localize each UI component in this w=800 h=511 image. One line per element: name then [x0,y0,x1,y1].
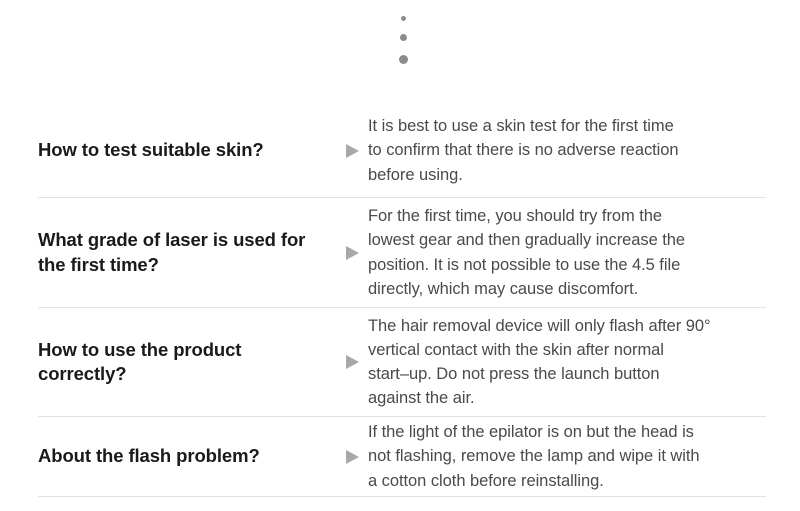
faq-question-cell: What grade of laser is used for the firs… [38,228,334,277]
arrow-right-icon [346,355,359,369]
three-dot-ornament [0,0,800,100]
faq-question-text: What grade of laser is used for the firs… [38,228,328,277]
faq-question-cell: How to use the product correctly? [38,338,334,387]
faq-answer-cell: It is best to use a skin test for the fi… [368,114,766,187]
faq-answer-cell: For the first time, you should try from … [368,204,766,301]
ornament-dot-medium [400,34,407,41]
faq-question-text: About the flash problem? [38,444,328,468]
faq-question-text: How to use the product correctly? [38,338,328,387]
faq-question-cell: About the flash problem? [38,444,334,468]
faq-row: About the flash problem? If the light of… [38,417,766,497]
faq-answer-cell: The hair removal device will only flash … [368,314,766,411]
arrow-right-icon [346,246,359,260]
arrow-right-icon [346,144,359,158]
faq-answer-text: The hair removal device will only flash … [368,314,766,411]
faq-answer-text: It is best to use a skin test for the fi… [368,114,766,187]
faq-row: What grade of laser is used for the firs… [38,198,766,308]
faq-row: How to test suitable skin? It is best to… [38,104,766,198]
faq-list: How to test suitable skin? It is best to… [38,104,766,497]
faq-question-cell: How to test suitable skin? [38,138,334,162]
faq-answer-text: For the first time, you should try from … [368,204,766,301]
faq-question-text: How to test suitable skin? [38,138,328,162]
ornament-dot-large [399,55,408,64]
faq-answer-text: If the light of the epilator is on but t… [368,420,766,493]
ornament-dot-small [401,16,406,21]
faq-answer-cell: If the light of the epilator is on but t… [368,420,766,493]
faq-separator [334,450,368,464]
faq-separator [334,246,368,260]
faq-separator [334,355,368,369]
faq-row: How to use the product correctly? The ha… [38,308,766,417]
faq-separator [334,144,368,158]
arrow-right-icon [346,450,359,464]
